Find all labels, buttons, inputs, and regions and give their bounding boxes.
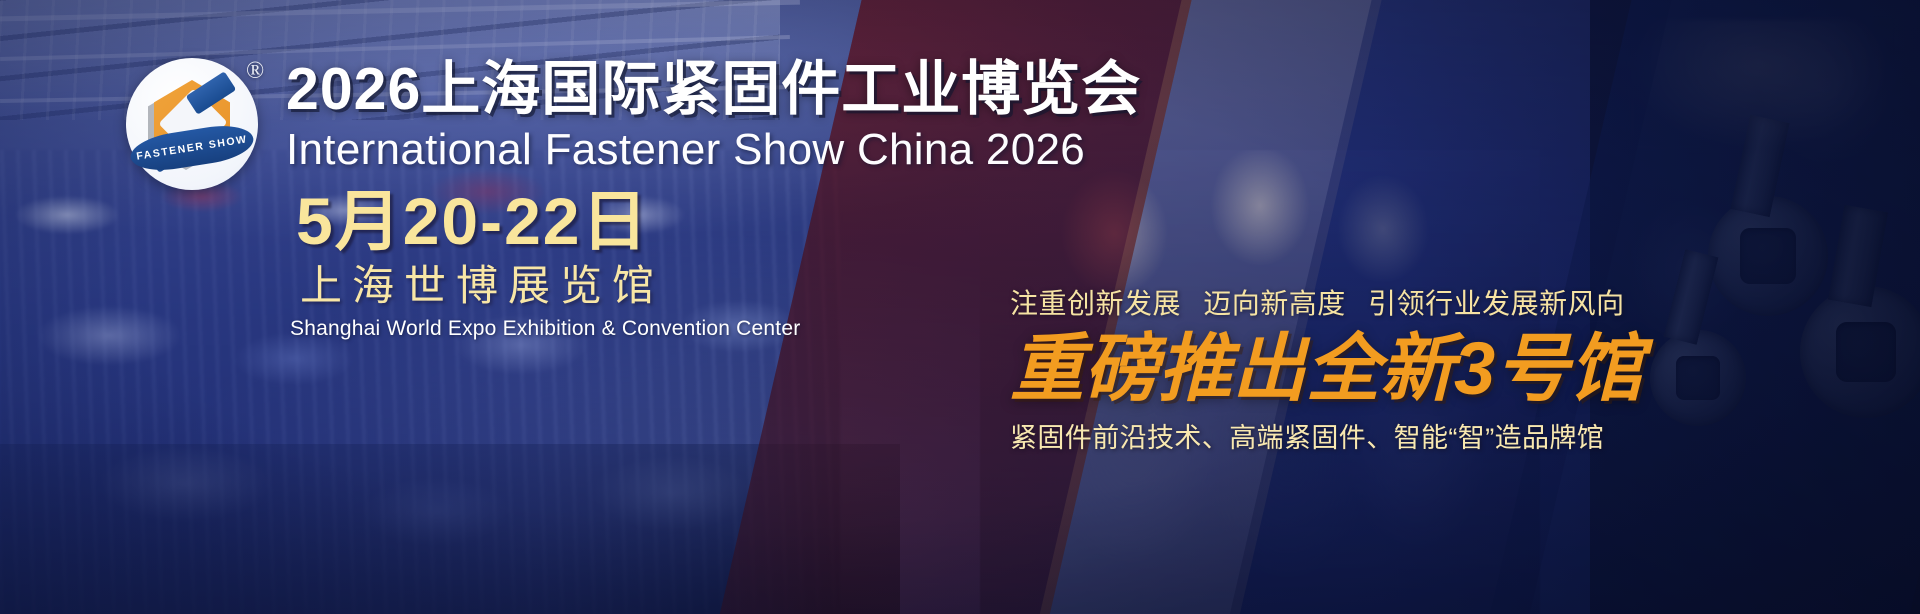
event-title-english: International Fastener Show China 2026 bbox=[286, 126, 986, 174]
event-identity-block: 2026上海国际紧固件工业博览会 International Fastener … bbox=[286, 60, 986, 340]
slogan-tagline-2: 迈向新高度 bbox=[1203, 288, 1346, 319]
slogan-tagline-row: 注重创新发展 迈向新高度 引领行业发展新风向 bbox=[1010, 282, 1900, 322]
slogan-tagline-1: 注重创新发展 bbox=[1010, 288, 1181, 319]
exhibition-banner: FASTENER SHOW ® 2026上海国际紧固件工业博览会 Interna… bbox=[0, 0, 1920, 614]
slogan-subtext: 紧固件前沿技术、高端紧固件、智能“智”造品牌馆 bbox=[1010, 416, 1900, 455]
logo-ribbon: FASTENER SHOW bbox=[128, 121, 256, 176]
event-venue-chinese: 上海世博展览馆 bbox=[300, 264, 986, 308]
fastener-show-logo[interactable]: FASTENER SHOW bbox=[126, 58, 258, 190]
logo-ribbon-text: FASTENER SHOW bbox=[128, 121, 256, 176]
event-date: 5月20-22日 bbox=[296, 188, 986, 254]
slogan-headline: 重磅推出全新3号馆 bbox=[1010, 330, 1900, 408]
event-venue-english: Shanghai World Expo Exhibition & Convent… bbox=[290, 317, 986, 340]
slogan-tagline-3: 引领行业发展新风向 bbox=[1368, 288, 1625, 319]
event-title-chinese: 2026上海国际紧固件工业博览会 bbox=[286, 60, 986, 119]
slogan-block: 注重创新发展 迈向新高度 引领行业发展新风向 重磅推出全新3号馆 紧固件前沿技术… bbox=[1010, 282, 1900, 455]
registered-trademark-icon: ® bbox=[246, 58, 264, 85]
